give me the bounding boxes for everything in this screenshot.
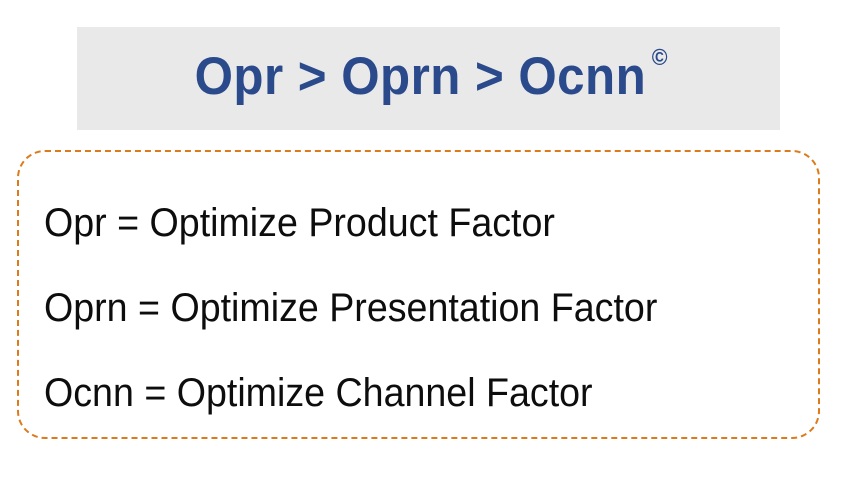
copyright-icon: © (652, 44, 668, 70)
title-label: Opr > Oprn > Ocnn (195, 47, 647, 106)
definition-item-oprn: Oprn = Optimize Presentation Factor (44, 265, 772, 350)
definitions-panel: Opr = Optimize Product Factor Oprn = Opt… (17, 150, 820, 439)
title-banner: Opr > Oprn > Ocnn© (77, 27, 780, 130)
definition-item-ocnn: Ocnn = Optimize Channel Factor (44, 350, 772, 435)
page-title: Opr > Oprn > Ocnn© (195, 50, 663, 103)
definition-item-opr: Opr = Optimize Product Factor (44, 180, 772, 265)
slide-canvas: Opr > Oprn > Ocnn© Opr = Optimize Produc… (0, 0, 856, 478)
